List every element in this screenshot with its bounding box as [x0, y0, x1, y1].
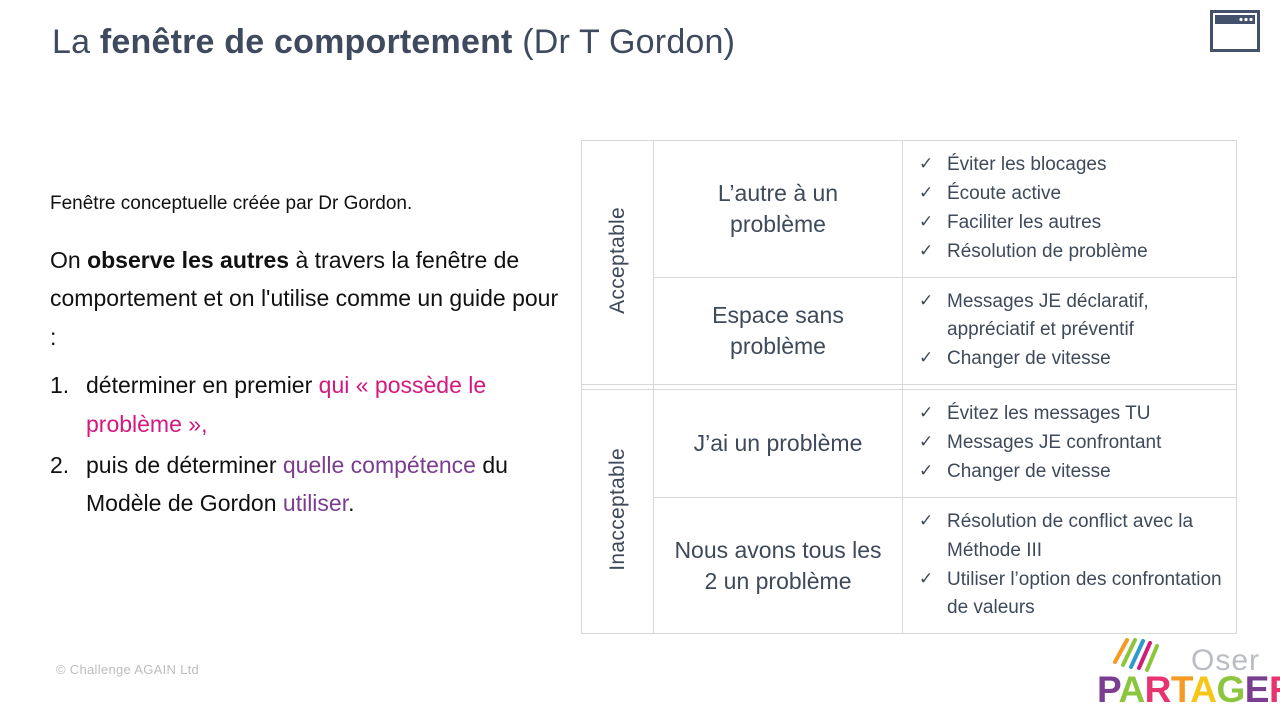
action-label: Messages JE déclaratif, appréciatif et p… — [947, 291, 1149, 341]
window-icon[interactable] — [1210, 10, 1260, 52]
logo-partager-text: PARTAGER — [1097, 671, 1280, 708]
page-title: La fenêtre de comportement (Dr T Gordon) — [52, 22, 735, 63]
action-label: Messages JE confrontant — [947, 432, 1161, 453]
list-item: 1.déterminer en premier qui « possède le… — [50, 366, 570, 443]
action-item: ✓Changer de vitesse — [917, 458, 1224, 487]
lead-paragraph: On observe les autres à travers la fenêt… — [50, 241, 570, 357]
action-label: Résolution de problème — [947, 241, 1148, 262]
list-item-accent-2: utiliser — [283, 490, 348, 516]
check-icon: ✓ — [919, 209, 933, 235]
check-icon: ✓ — [919, 458, 933, 484]
logo-letter-p: P — [1097, 669, 1118, 710]
check-icon: ✓ — [919, 400, 933, 426]
action-item: ✓Messages JE confrontant — [917, 429, 1224, 458]
list-item-accent: quelle compétence — [283, 452, 476, 478]
check-icon: ✓ — [919, 238, 933, 264]
action-label: Résolution de conflict avec la Méthode I… — [947, 511, 1193, 561]
logo-letter-g: G — [1217, 669, 1245, 710]
action-label: Faciliter les autres — [947, 212, 1101, 233]
table-row: Inacceptable J’ai un problème ✓Évitez le… — [582, 390, 1237, 498]
logo-letter-a2: A — [1190, 669, 1216, 710]
actions-cell: ✓Résolution de conflict avec la Méthode … — [903, 497, 1237, 634]
state-cell: L’autre à un problème — [654, 141, 903, 278]
action-item: ✓Faciliter les autres — [917, 209, 1224, 238]
page-title-bold: fenêtre de comportement — [100, 23, 513, 61]
action-label: Éviter les blocages — [947, 154, 1106, 175]
logo-letter-a1: A — [1118, 669, 1144, 710]
check-icon: ✓ — [919, 508, 933, 534]
check-icon: ✓ — [919, 566, 933, 592]
logo-letter-r1: R — [1145, 669, 1171, 710]
category-label: Acceptable — [606, 207, 630, 314]
table-row: Acceptable L’autre à un problème ✓Éviter… — [582, 141, 1237, 278]
lead-paragraph-emphasis: observe les autres — [87, 247, 289, 273]
action-label: Évitez les messages TU — [947, 403, 1150, 424]
category-label: Inacceptable — [606, 448, 630, 571]
action-item: ✓Changer de vitesse — [917, 345, 1224, 374]
action-item: ✓Messages JE déclaratif, appréciatif et … — [917, 288, 1224, 346]
table-row: Nous avons tous les 2 un problème ✓Résol… — [582, 497, 1237, 634]
check-icon: ✓ — [919, 151, 933, 177]
actions-cell: ✓Messages JE déclaratif, appréciatif et … — [903, 277, 1237, 385]
list-item-text: puis de déterminer — [86, 452, 283, 478]
action-item: ✓Évitez les messages TU — [917, 400, 1224, 429]
check-icon: ✓ — [919, 180, 933, 206]
action-item: ✓Utiliser l’option des confrontation de … — [917, 566, 1224, 624]
logo-letter-r2: R — [1269, 669, 1280, 710]
category-cell-inacceptable: Inacceptable — [582, 390, 654, 634]
page-title-lead: La — [52, 23, 100, 61]
action-label: Utiliser l’option des confrontation de v… — [947, 569, 1222, 619]
check-icon: ✓ — [919, 288, 933, 314]
actions-cell: ✓Évitez les messages TU ✓Messages JE con… — [903, 390, 1237, 498]
action-item: ✓Résolution de problème — [917, 238, 1224, 267]
left-content-column: Fenêtre conceptuelle créée par Dr Gordon… — [50, 190, 570, 525]
action-item: ✓Résolution de conflict avec la Méthode … — [917, 508, 1224, 566]
state-cell: Espace sans problème — [654, 277, 903, 385]
actions-cell: ✓Éviter les blocages ✓Écoute active ✓Fac… — [903, 141, 1237, 278]
state-cell: J’ai un problème — [654, 390, 903, 498]
brand-logo: Oser PARTAGER — [1097, 632, 1262, 710]
list-item-number: 2. — [50, 446, 80, 485]
logo-letter-e: E — [1245, 669, 1269, 710]
action-label: Changer de vitesse — [947, 461, 1111, 482]
list-item-number: 1. — [50, 366, 80, 405]
check-icon: ✓ — [919, 429, 933, 455]
steps-list: 1.déterminer en premier qui « possède le… — [50, 366, 570, 523]
category-cell-acceptable: Acceptable — [582, 141, 654, 385]
list-item: 2.puis de déterminer quelle compétence d… — [50, 446, 570, 523]
check-icon: ✓ — [919, 345, 933, 371]
list-item-text-3: . — [348, 490, 354, 516]
logo-letter-t: T — [1171, 669, 1190, 710]
action-item: ✓Écoute active — [917, 180, 1224, 209]
page-title-author: (Dr T Gordon) — [513, 23, 736, 61]
table-row: Espace sans problème ✓Messages JE déclar… — [582, 277, 1237, 385]
lead-paragraph-pre: On — [50, 247, 87, 273]
action-item: ✓Éviter les blocages — [917, 151, 1224, 180]
action-label: Changer de vitesse — [947, 348, 1111, 369]
copyright-notice: © Challenge AGAIN Ltd — [56, 662, 199, 677]
action-label: Écoute active — [947, 183, 1061, 204]
intro-sentence: Fenêtre conceptuelle créée par Dr Gordon… — [50, 190, 570, 219]
state-cell: Nous avons tous les 2 un problème — [654, 497, 903, 634]
behaviour-window-table: Acceptable L’autre à un problème ✓Éviter… — [581, 140, 1237, 634]
list-item-text: déterminer en premier — [86, 372, 319, 398]
